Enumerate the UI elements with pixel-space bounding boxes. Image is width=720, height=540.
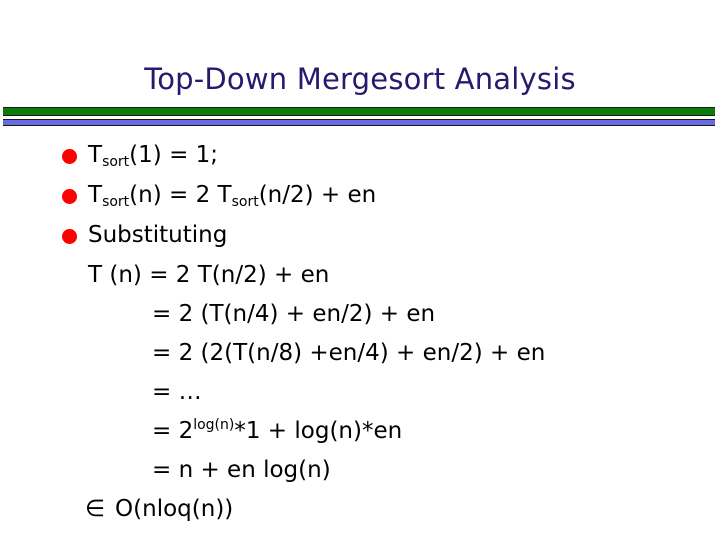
element-of-icon: ∈ — [85, 496, 115, 522]
page-title: Top-Down Mergesort Analysis — [0, 62, 720, 96]
divider-blue-bar — [3, 119, 715, 126]
derivation-line-7: ∈O(nloq(n)) — [0, 490, 720, 529]
bullet-2-subscript: sort — [102, 194, 129, 210]
list-item: Substituting — [0, 216, 720, 256]
slide-body: Tsort(1) = 1; Tsort(n) = 2 Tsort(n/2) + … — [0, 136, 720, 529]
bullet-text-substituting: Substituting — [88, 216, 227, 254]
derivation-line-7-text: O(nloq(n)) — [115, 496, 233, 522]
bullet-2-suffix: (n) = 2 T — [129, 182, 231, 208]
bullet-2-suffix-2: (n/2) + en — [259, 182, 377, 208]
bullet-1-subscript: sort — [102, 154, 129, 170]
list-item: Tsort(1) = 1; — [0, 136, 720, 176]
derivation-line-1: T (n) = 2 T(n/2) + en — [0, 256, 720, 295]
bullet-2-subscript-2: sort — [232, 194, 259, 210]
bullet-text-base-case: Tsort(1) = 1; — [88, 136, 218, 177]
bullet-dot-icon — [62, 189, 77, 204]
derivation-line-5-exponent: log(n) — [193, 417, 234, 433]
bullet-2-prefix: T — [88, 182, 102, 208]
bullet-dot-icon — [62, 149, 77, 164]
derivation-line-5: = 2log(n)*1 + log(n)*en — [0, 412, 720, 451]
bullet-text-recurrence: Tsort(n) = 2 Tsort(n/2) + en — [88, 176, 376, 217]
bullet-dot-icon — [62, 229, 77, 244]
derivation-line-5-post: *1 + log(n)*en — [234, 418, 402, 444]
divider-green-bar — [3, 107, 715, 116]
bullet-1-prefix: T — [88, 142, 102, 168]
slide-canvas: Top-Down Mergesort Analysis Tsort(1) = 1… — [0, 0, 720, 540]
title-divider — [3, 107, 715, 126]
derivation-line-6: = n + en log(n) — [0, 451, 720, 490]
derivation-line-2: = 2 (T(n/4) + en/2) + en — [0, 295, 720, 334]
derivation-line-4: = … — [0, 373, 720, 412]
derivation-line-5-pre: = 2 — [152, 418, 193, 444]
bullet-1-suffix: (1) = 1; — [129, 142, 218, 168]
list-item: Tsort(n) = 2 Tsort(n/2) + en — [0, 176, 720, 216]
derivation-line-3: = 2 (2(T(n/8) +en/4) + en/2) + en — [0, 334, 720, 373]
